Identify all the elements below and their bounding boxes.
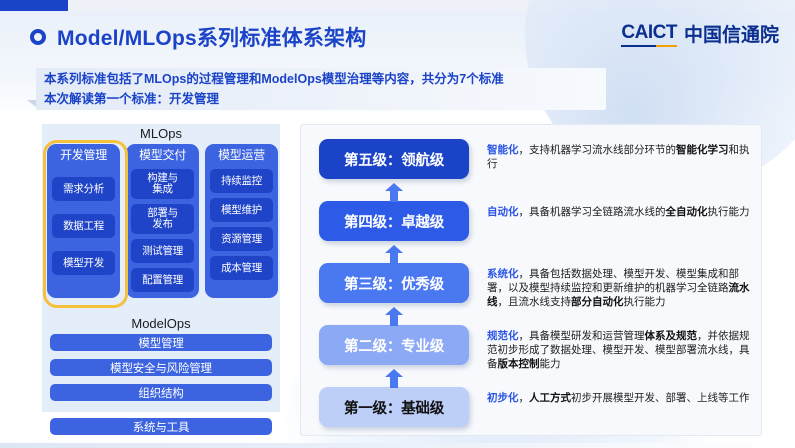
modelops-title: ModelOps — [42, 316, 280, 331]
maturity-model-panel: 第五级：领航级第四级：卓越级第三级：优秀级第二级：专业级第一级：基础级 智能化，… — [300, 124, 762, 436]
maturity-level-description: 初步化，人工方式初步开展模型开发、部署、上线等工作 — [487, 391, 755, 405]
logo-underline-blue — [621, 45, 655, 48]
page-title: Model/MLOps系列标准体系架构 — [57, 22, 366, 52]
modelops-item-bar[interactable]: 组织结构 — [50, 384, 272, 401]
mlops-column-1: 模型交付构建与集成部署与发布测试管理配置管理 — [126, 144, 199, 298]
logo-mark-text: CAICT — [621, 22, 677, 43]
mlops-column-head: 模型交付 — [131, 147, 194, 164]
mlops-item-chip[interactable]: 资源管理 — [210, 227, 273, 251]
subtitle-line-1: 本系列标准包括了MLOps的过程管理和ModelOps模型治理等内容，共分为7个… — [44, 69, 604, 89]
maturity-ladder: 第五级：领航级第四级：卓越级第三级：优秀级第二级：专业级第一级：基础级 — [319, 135, 469, 427]
system-tools-bar[interactable]: 系统与工具 — [50, 418, 272, 435]
logo-mark: CAICT — [621, 22, 677, 47]
mlops-item-chip[interactable]: 需求分析 — [52, 177, 115, 201]
logo-underline-gold — [656, 45, 677, 48]
up-arrow-icon — [385, 245, 403, 264]
mlops-item-chip[interactable]: 部署与发布 — [131, 204, 194, 234]
mlops-title: MLOps — [42, 126, 280, 141]
mlops-item-chip[interactable]: 数据工程 — [52, 214, 115, 238]
mlops-item-chip[interactable]: 模型维护 — [210, 198, 273, 222]
bottom-accent-line — [0, 443, 795, 448]
subtitle-text: 本系列标准包括了MLOps的过程管理和ModelOps模型治理等内容，共分为7个… — [44, 69, 604, 109]
maturity-level-box[interactable]: 第二级：专业级 — [319, 325, 469, 365]
mlops-column-0: 开发管理需求分析数据工程模型开发 — [47, 144, 120, 298]
mlops-columns: 开发管理需求分析数据工程模型开发模型交付构建与集成部署与发布测试管理配置管理模型… — [47, 144, 278, 298]
modelops-item-bar[interactable]: 模型安全与风险管理 — [50, 359, 272, 376]
maturity-level-description: 系统化，具备包括数据处理、模型开发、模型集成和部署，以及模型持续监控和更新维护的… — [487, 267, 755, 309]
mlops-item-chip[interactable]: 成本管理 — [210, 256, 273, 280]
up-arrow-icon — [385, 183, 403, 202]
maturity-level-description: 自动化，具备机器学习全链路流水线的全自动化执行能力 — [487, 205, 755, 219]
mlops-item-chip[interactable]: 测试管理 — [131, 239, 194, 263]
mlops-item-chip[interactable]: 模型开发 — [52, 251, 115, 275]
subtitle-banner-tail — [27, 100, 36, 107]
slide-canvas: Model/MLOps系列标准体系架构 CAICT 中国信通院 本系列标准包括了… — [0, 0, 795, 448]
mlops-column-head: 模型运营 — [210, 147, 273, 164]
mlops-item-chip[interactable]: 持续监控 — [210, 169, 273, 193]
page-title-row: Model/MLOps系列标准体系架构 — [30, 22, 366, 52]
maturity-level-box[interactable]: 第三级：优秀级 — [319, 263, 469, 303]
mlops-box: MLOps 开发管理需求分析数据工程模型开发模型交付构建与集成部署与发布测试管理… — [42, 124, 280, 314]
up-arrow-icon — [385, 369, 403, 388]
top-band-accent — [0, 0, 68, 11]
logo-name: 中国信通院 — [684, 20, 779, 47]
mlops-item-chip[interactable]: 配置管理 — [131, 268, 194, 292]
maturity-level-description: 规范化，具备模型研发和运营管理体系及规范，并依据规范初步形成了数据处理、模型开发… — [487, 329, 755, 371]
mlops-item-chip[interactable]: 构建与集成 — [131, 169, 194, 199]
mlops-column-2: 模型运营持续监控模型维护资源管理成本管理 — [205, 144, 278, 298]
up-arrow-icon — [385, 307, 403, 326]
subtitle-line-2: 本次解读第一个标准：开发管理 — [44, 89, 604, 109]
standards-structure-panel: MLOps 开发管理需求分析数据工程模型开发模型交付构建与集成部署与发布测试管理… — [42, 124, 280, 440]
maturity-level-box[interactable]: 第四级：卓越级 — [319, 201, 469, 241]
maturity-level-box[interactable]: 第一级：基础级 — [319, 387, 469, 427]
modelops-item-bar[interactable]: 模型管理 — [50, 334, 272, 351]
maturity-level-box[interactable]: 第五级：领航级 — [319, 139, 469, 179]
maturity-level-description: 智能化，支持机器学习流水线部分环节的智能化学习和执行 — [487, 143, 755, 171]
caict-logo: CAICT 中国信通院 — [621, 20, 779, 47]
mlops-column-head: 开发管理 — [52, 147, 115, 164]
ring-icon — [30, 29, 46, 45]
